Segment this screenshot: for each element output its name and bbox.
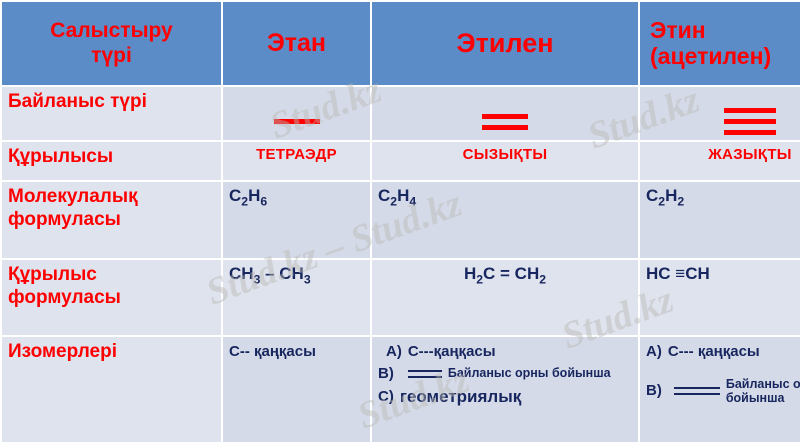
triple-bond-icon: [646, 91, 800, 144]
cell-bond-type-ethane: [222, 86, 371, 141]
criterion-label-line2: түрі: [8, 44, 215, 68]
comparison-table: Салыстыру түрі Этан Этилен Этин (ацетиле…: [0, 0, 800, 444]
single-bond-icon: [229, 91, 364, 144]
column-header-ethyne: Этин (ацетилен): [639, 1, 800, 86]
isomer-text-line1: Байланыс орны: [726, 377, 800, 391]
cell-structure-ethyne: ЖАЗЫҚТЫ: [639, 141, 800, 181]
isomer-marker: C): [378, 386, 394, 408]
cell-structure-ethylene: СЫЗЫҚТЫ: [371, 141, 639, 181]
molecular-formula-ethyne-value: C2H2: [646, 186, 800, 208]
list-item: A) C---қаңқасы: [378, 341, 632, 363]
table-row: Молекулалық формуласы C2H6 C2H4 C2H2: [1, 181, 800, 259]
table-row: Құрылысы ТЕТРАЭДР СЫЗЫҚТЫ ЖАЗЫҚТЫ: [1, 141, 800, 181]
cell-structural-formula-ethane: CH3 – CH3: [222, 259, 371, 336]
structural-formula-ethylene-value: H2C = CH2: [378, 264, 632, 286]
cell-isomers-ethane: C-- қаңқасы: [222, 336, 371, 443]
cell-bond-type-ethyne: [639, 86, 800, 141]
isomer-text: геометриялық: [400, 385, 521, 410]
isomers-ethylene-list: A) C---қаңқасы B) Байланыс орны бойынша …: [378, 341, 632, 409]
structural-formula-label-line2: формуласы: [8, 287, 215, 310]
row-header-isomers: Изомерлері: [1, 336, 222, 443]
structural-formula-label-line1: Құрылыс: [8, 264, 215, 287]
cell-structural-formula-ethylene: H2C = CH2: [371, 259, 639, 336]
isomer-text: C---қаңқасы: [408, 341, 496, 363]
molecular-formula-label-line1: Молекулалық: [8, 186, 215, 209]
isomer-text-line2: бойынша: [726, 391, 785, 405]
column-header-ethane: Этан: [222, 1, 371, 86]
cell-isomers-ethyne: A) C--- қаңқасы B) Байланыс орны бойынша: [639, 336, 800, 443]
criterion-label-line1: Салыстыру: [8, 19, 215, 43]
slide-canvas: Салыстыру түрі Этан Этилен Этин (ацетиле…: [0, 0, 800, 444]
structural-formula-ethyne-value: HC ≡CH: [646, 264, 800, 284]
molecular-formula-ethane-value: C2H6: [229, 186, 364, 208]
row-header-structure: Құрылысы: [1, 141, 222, 181]
row-header-structural-formula: Құрылыс формуласы: [1, 259, 222, 336]
ethyne-label-line2: (ацетилен): [650, 44, 800, 69]
ethyne-label-line1: Этин: [650, 18, 800, 43]
isomer-text: C--- қаңқасы: [668, 341, 760, 363]
table-header-row: Салыстыру түрі Этан Этилен Этин (ацетиле…: [1, 1, 800, 86]
molecular-formula-ethylene-value: C2H4: [378, 186, 632, 208]
structure-ethane-value: ТЕТРАЭДР: [229, 146, 364, 163]
molecular-formula-label-line2: формуласы: [8, 209, 215, 232]
cell-molecular-formula-ethylene: C2H4: [371, 181, 639, 259]
double-bond-icon: [378, 91, 632, 144]
cell-bond-type-ethylene: [371, 86, 639, 141]
row-header-bond-type: Байланыс түрі: [1, 86, 222, 141]
table-row: Изомерлері C-- қаңқасы A) C---қаңқасы B): [1, 336, 800, 443]
cell-molecular-formula-ethyne: C2H2: [639, 181, 800, 259]
list-item: B) Байланыс орны бойынша: [646, 377, 800, 406]
row-header-molecular-formula: Молекулалық формуласы: [1, 181, 222, 259]
structure-ethylene-value: СЫЗЫҚТЫ: [378, 146, 632, 163]
isomer-marker: A): [646, 341, 662, 363]
isomer-text: Байланыс орны бойынша: [448, 366, 611, 380]
column-header-criterion: Салыстыру түрі: [1, 1, 222, 86]
cell-molecular-formula-ethane: C2H6: [222, 181, 371, 259]
isomers-ethyne-list: A) C--- қаңқасы B) Байланыс орны бойынша: [646, 341, 800, 406]
isomer-text: Байланыс орны бойынша: [726, 377, 800, 406]
column-header-ethylene: Этилен: [371, 1, 639, 86]
isomer-marker: B): [378, 363, 394, 385]
list-item: A) C--- қаңқасы: [646, 341, 800, 363]
double-line-icon: [674, 387, 720, 395]
list-item: C) геометриялық: [378, 385, 632, 410]
cell-structure-ethane: ТЕТРАЭДР: [222, 141, 371, 181]
structure-ethyne-value: ЖАЗЫҚТЫ: [646, 146, 800, 163]
table-row: Байланыс түрі: [1, 86, 800, 141]
table-row: Құрылыс формуласы CH3 – CH3 H2C = CH2 HC…: [1, 259, 800, 336]
double-line-icon: [408, 370, 442, 378]
isomers-ethane-value: C-- қаңқасы: [229, 341, 364, 363]
isomer-marker: A): [386, 341, 402, 363]
isomer-marker: B): [646, 380, 662, 402]
cell-structural-formula-ethyne: HC ≡CH: [639, 259, 800, 336]
structural-formula-ethane-value: CH3 – CH3: [229, 264, 364, 286]
list-item: B) Байланыс орны бойынша: [378, 363, 632, 385]
cell-isomers-ethylene: A) C---қаңқасы B) Байланыс орны бойынша …: [371, 336, 639, 443]
